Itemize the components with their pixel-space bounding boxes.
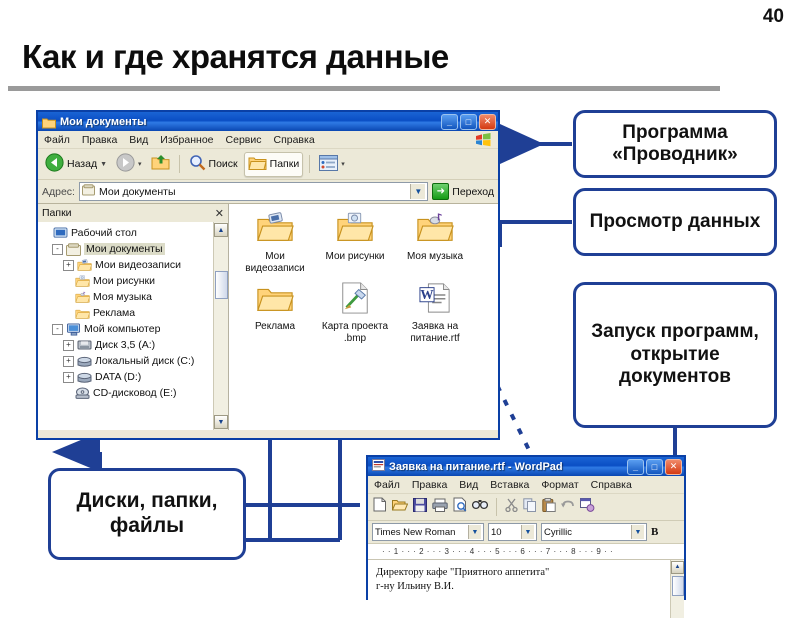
- maximize-button[interactable]: □: [460, 114, 477, 130]
- forward-button[interactable]: ▾: [113, 151, 145, 177]
- folders-pane: Папки ✕ Рабочий стол-Мои документы+Мои в…: [38, 204, 229, 430]
- find-icon[interactable]: [472, 498, 488, 516]
- callout-explorer-program: Программа «Проводник»: [573, 110, 777, 178]
- menu-file[interactable]: Файл: [374, 479, 400, 491]
- wordpad-ruler: · · 1 · · · 2 · · · 3 · · · 4 · · · 5 · …: [368, 544, 684, 560]
- print-preview-icon[interactable]: [453, 497, 467, 517]
- bold-button[interactable]: B: [651, 526, 658, 538]
- svg-text:W: W: [420, 287, 433, 302]
- wordpad-icon: [372, 458, 385, 476]
- callout-disks-label: Диски, папки, файлы: [51, 489, 243, 539]
- scroll-down-icon[interactable]: ▼: [214, 415, 228, 429]
- tree-item-label: Рабочий стол: [71, 227, 137, 239]
- file-item-label: Реклама: [255, 321, 295, 333]
- close-button[interactable]: ✕: [479, 114, 496, 130]
- explorer-window[interactable]: Мои документы _ □ ✕ Файл Правка Вид Избр…: [36, 110, 500, 440]
- collapse-toggle-icon[interactable]: -: [52, 244, 63, 255]
- search-button[interactable]: Поиск: [186, 152, 241, 176]
- search-label: Поиск: [209, 158, 238, 170]
- tree-item[interactable]: -Мои документы: [41, 241, 213, 257]
- scrollbar-thumb[interactable]: [215, 271, 228, 299]
- file-item[interactable]: WЗаявка на питание.rtf: [395, 282, 475, 344]
- go-label: Переход: [452, 186, 494, 198]
- address-value: Мои документы: [99, 186, 176, 198]
- tree-item[interactable]: Рабочий стол: [41, 225, 213, 241]
- new-icon[interactable]: [373, 497, 387, 517]
- chevron-down-icon[interactable]: ▾: [138, 160, 142, 168]
- tree-item[interactable]: Реклама: [41, 305, 213, 321]
- desktop-icon: [53, 227, 68, 240]
- folder-icon: [248, 155, 267, 174]
- magnifier-icon: [189, 154, 206, 174]
- scroll-up-icon[interactable]: ▲: [214, 223, 228, 237]
- file-item[interactable]: Мои видеозаписи: [235, 212, 315, 274]
- save-icon[interactable]: [413, 498, 427, 517]
- back-label: Назад: [67, 158, 97, 170]
- green-arrow-icon: ➜: [432, 183, 449, 200]
- chevron-down-icon[interactable]: ▼: [100, 161, 107, 168]
- folder-icon: [42, 116, 56, 128]
- folders-tree-wrap: Рабочий стол-Мои документы+Мои видеозапи…: [38, 222, 228, 430]
- tree-item-label: Мои рисунки: [93, 275, 155, 287]
- expand-toggle-icon[interactable]: +: [63, 372, 74, 383]
- font-size-value: 10: [491, 527, 502, 538]
- callout-view-label: Просмотр данных: [590, 211, 761, 233]
- menu-help[interactable]: Справка: [273, 134, 314, 146]
- hard-disk-icon: [77, 371, 92, 384]
- file-item[interactable]: Моя музыка: [395, 212, 475, 274]
- menu-tools[interactable]: Сервис: [226, 134, 262, 146]
- tree-item[interactable]: +Мои видеозаписи: [41, 257, 213, 273]
- cd-drive-icon: [75, 387, 90, 400]
- file-item[interactable]: Карта проекта .bmp: [315, 282, 395, 344]
- file-item[interactable]: Реклама: [235, 282, 315, 344]
- page-number: 40: [763, 6, 784, 28]
- explorer-body: Папки ✕ Рабочий стол-Мои документы+Мои в…: [38, 204, 498, 430]
- my-documents-icon: [82, 184, 95, 199]
- pictures-folder-icon: [75, 275, 90, 288]
- floppy-icon: [77, 339, 92, 352]
- tree-item[interactable]: Мои рисунки: [41, 273, 213, 289]
- windows-flag-icon: [475, 133, 492, 147]
- scroll-up-icon[interactable]: ▲: [671, 561, 684, 574]
- tree-item-label: Реклама: [93, 307, 135, 319]
- bitmap-file-icon: [336, 282, 374, 319]
- menu-view[interactable]: Вид: [459, 479, 478, 491]
- menu-format[interactable]: Формат: [541, 479, 578, 491]
- wordpad-document[interactable]: Директору кафе "Приятного аппетита" г-ну…: [368, 560, 684, 618]
- folders-label: Папки: [270, 158, 300, 170]
- menu-edit[interactable]: Правка: [412, 479, 447, 491]
- tree-item-label: Мой компьютер: [84, 323, 160, 335]
- expand-toggle-icon[interactable]: +: [63, 340, 74, 351]
- menu-edit[interactable]: Правка: [82, 134, 117, 146]
- wordpad-title: Заявка на питание.rtf - WordPad: [389, 461, 623, 473]
- close-button[interactable]: ✕: [665, 459, 682, 475]
- menu-file[interactable]: Файл: [44, 134, 70, 146]
- callout-launch-programs: Запуск программ, открытие документов: [573, 282, 777, 428]
- tree-item[interactable]: -Мой компьютер: [41, 321, 213, 337]
- wordpad-file-icon: W: [416, 282, 454, 319]
- toolbar-separator: [179, 155, 180, 173]
- video-folder-icon: [77, 259, 92, 272]
- tree-item[interactable]: +Локальный диск (C:): [41, 353, 213, 369]
- chevron-down-icon[interactable]: ▼: [521, 525, 534, 539]
- document-scrollbar[interactable]: ▲: [670, 560, 684, 618]
- print-icon[interactable]: [432, 498, 448, 517]
- chevron-down-icon[interactable]: ▼: [410, 184, 425, 199]
- file-item-label: Моя музыка: [407, 251, 463, 263]
- expand-toggle-icon[interactable]: +: [63, 356, 74, 367]
- open-icon[interactable]: [392, 498, 408, 517]
- script-value: Cyrillic: [544, 527, 572, 538]
- views-button[interactable]: ▾: [316, 153, 348, 176]
- copy-icon[interactable]: [523, 498, 537, 517]
- music-folder-icon: [416, 212, 454, 249]
- script-select[interactable]: Cyrillic ▼: [541, 523, 647, 541]
- minimize-button[interactable]: _: [441, 114, 458, 130]
- callout-disks-folders-files: Диски, папки, файлы: [48, 468, 246, 560]
- undo-icon[interactable]: [561, 498, 575, 516]
- up-folder-icon: [151, 154, 170, 174]
- tree-item-label: Локальный диск (C:): [95, 355, 194, 367]
- tree-item[interactable]: +DATA (D:): [41, 369, 213, 385]
- my-documents-icon: [66, 243, 81, 256]
- chevron-down-icon[interactable]: ▾: [341, 160, 345, 168]
- callout-launch-label: Запуск программ, открытие документов: [576, 321, 774, 388]
- menu-help[interactable]: Справка: [591, 479, 632, 491]
- file-item[interactable]: Мои рисунки: [315, 212, 395, 274]
- wordpad-window[interactable]: Заявка на питание.rtf - WordPad _ □ ✕ Фа…: [366, 455, 686, 600]
- expand-toggle-icon[interactable]: +: [63, 260, 74, 271]
- explorer-window-buttons[interactable]: _ □ ✕: [441, 114, 496, 130]
- wordpad-titlebar[interactable]: Заявка на питание.rtf - WordPad _ □ ✕: [368, 457, 684, 476]
- maximize-button[interactable]: □: [646, 459, 663, 475]
- pictures-folder-icon: [336, 212, 374, 249]
- back-arrow-icon: [45, 153, 64, 175]
- tree-item-label: Диск 3,5 (A:): [95, 339, 155, 351]
- minimize-button[interactable]: _: [627, 459, 644, 475]
- menu-view[interactable]: Вид: [129, 134, 148, 146]
- document-line: г-ну Ильину В.И.: [376, 580, 676, 594]
- paste-icon[interactable]: [542, 498, 556, 517]
- close-icon[interactable]: ✕: [215, 207, 224, 220]
- title-divider: [8, 86, 720, 91]
- forward-arrow-icon: [116, 153, 135, 175]
- page-title: Как и где хранятся данные: [22, 38, 449, 76]
- toolbar-separator: [309, 155, 310, 173]
- my-computer-icon: [66, 323, 81, 336]
- tree-item[interactable]: CD-дисковод (E:): [41, 385, 213, 401]
- tree-item-label: Мои видеозаписи: [95, 259, 181, 271]
- explorer-menubar[interactable]: Файл Правка Вид Избранное Сервис Справка: [38, 131, 498, 149]
- explorer-titlebar[interactable]: Мои документы _ □ ✕: [38, 112, 498, 131]
- collapse-toggle-icon[interactable]: -: [52, 324, 63, 335]
- back-button[interactable]: Назад ▼: [42, 151, 110, 177]
- tree-item-label: DATA (D:): [95, 371, 141, 383]
- views-icon: [319, 155, 338, 174]
- video-folder-icon: [256, 212, 294, 249]
- folders-pane-title: Папки: [42, 207, 72, 219]
- scrollbar-thumb[interactable]: [672, 576, 684, 596]
- document-line: Директору кафе "Приятного аппетита": [376, 566, 676, 580]
- hard-disk-icon: [77, 355, 92, 368]
- font-family-value: Times New Roman: [375, 527, 455, 538]
- font-family-select[interactable]: Times New Roman ▼: [372, 523, 484, 541]
- callout-explorer-label: Программа «Проводник»: [576, 122, 774, 167]
- wordpad-menubar[interactable]: Файл Правка Вид Вставка Формат Справка: [368, 476, 684, 494]
- chevron-down-icon[interactable]: ▼: [631, 525, 644, 539]
- tree-item[interactable]: +Диск 3,5 (A:): [41, 337, 213, 353]
- date-time-icon[interactable]: [580, 498, 595, 517]
- folders-pane-header: Папки ✕: [38, 204, 228, 222]
- cut-icon[interactable]: [505, 498, 518, 517]
- folder-icon: [75, 307, 90, 320]
- up-button[interactable]: [148, 152, 173, 176]
- tree-scrollbar[interactable]: ▲ ▼: [213, 222, 228, 430]
- wordpad-toolbar[interactable]: [368, 494, 684, 521]
- folders-button[interactable]: Папки: [244, 152, 304, 177]
- file-item-label: Заявка на питание.rtf: [395, 321, 475, 344]
- file-item-label: Мои видеозаписи: [235, 251, 315, 274]
- tree-item-label: Моя музыка: [93, 291, 152, 303]
- tree-item-label: Мои документы: [84, 243, 165, 255]
- wordpad-format-bar[interactable]: Times New Roman ▼ 10 ▼ Cyrillic ▼ B: [368, 521, 684, 544]
- go-button[interactable]: ➜ Переход: [432, 183, 494, 200]
- explorer-toolbar[interactable]: Назад ▼ ▾ Поиск Папки: [38, 149, 498, 180]
- address-input[interactable]: Мои документы ▼: [79, 182, 428, 201]
- music-folder-icon: [75, 291, 90, 304]
- folders-tree[interactable]: Рабочий стол-Мои документы+Мои видеозапи…: [38, 222, 213, 430]
- toolbar-separator: [496, 498, 497, 516]
- file-item-label: Мои рисунки: [326, 251, 385, 263]
- address-label: Адрес:: [42, 186, 75, 198]
- font-size-select[interactable]: 10 ▼: [488, 523, 537, 541]
- menu-insert[interactable]: Вставка: [490, 479, 529, 491]
- files-pane[interactable]: Мои видеозаписиМои рисункиМоя музыкаРекл…: [229, 204, 498, 430]
- folder-icon: [256, 282, 294, 319]
- file-grid[interactable]: Мои видеозаписиМои рисункиМоя музыкаРекл…: [235, 212, 492, 352]
- file-item-label: Карта проекта .bmp: [315, 321, 395, 344]
- address-bar[interactable]: Адрес: Мои документы ▼ ➜ Переход: [38, 180, 498, 204]
- tree-item-label: CD-дисковод (E:): [93, 387, 176, 399]
- wordpad-window-buttons[interactable]: _ □ ✕: [627, 459, 682, 475]
- chevron-down-icon[interactable]: ▼: [468, 525, 481, 539]
- callout-view-data: Просмотр данных: [573, 188, 777, 256]
- tree-item[interactable]: Моя музыка: [41, 289, 213, 305]
- menu-favorites[interactable]: Избранное: [160, 134, 213, 146]
- explorer-title: Мои документы: [60, 116, 437, 128]
